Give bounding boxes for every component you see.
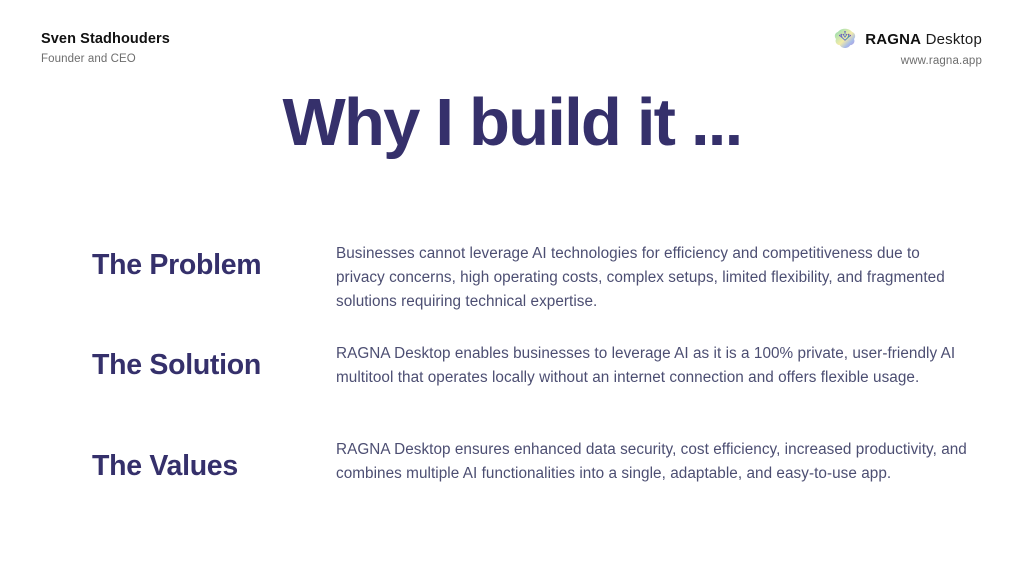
section-text-problem: Businesses cannot leverage AI technologi… [336,242,968,314]
brand-lockup: RAGNA Desktop [833,27,982,51]
brand-name-bold: RAGNA [865,31,921,48]
brand-name: RAGNA Desktop [865,31,982,48]
brand-name-light: Desktop [926,31,982,48]
content-row: The Solution RAGNA Desktop enables busin… [0,328,1024,428]
brand-block: RAGNA Desktop www.ragna.app [833,27,982,67]
content-row: The Values RAGNA Desktop ensures enhance… [0,428,1024,528]
presenter-name: Sven Stadhouders [41,30,170,49]
presenter-block: Sven Stadhouders Founder and CEO [41,30,170,67]
brain-tree-logo-icon [833,27,857,51]
presentation-slide: Sven Stadhouders Founder and CEO [0,0,1024,576]
brand-url: www.ragna.app [833,55,982,67]
section-label-problem: The Problem [0,250,336,281]
presenter-role: Founder and CEO [41,52,170,67]
section-text-solution: RAGNA Desktop enables businesses to leve… [336,342,968,390]
section-label-values: The Values [0,451,336,482]
content-row: The Problem Businesses cannot leverage A… [0,228,1024,328]
content-rows: The Problem Businesses cannot leverage A… [0,228,1024,528]
section-text-values: RAGNA Desktop ensures enhanced data secu… [336,438,968,486]
slide-title: Why I build it ... [0,88,1024,158]
section-label-solution: The Solution [0,350,336,381]
